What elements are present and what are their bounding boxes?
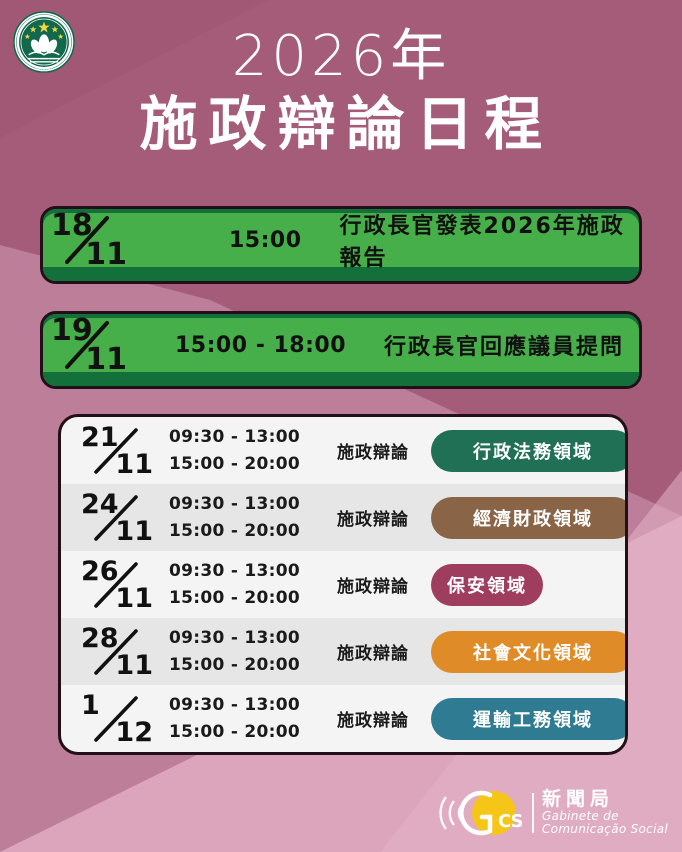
session-time-evening: 15:00 - 20:00	[169, 652, 321, 678]
policy-area-cell: 保安領域	[425, 564, 611, 606]
page-title: 施政辯論日程	[0, 91, 682, 158]
logo-divider	[532, 793, 534, 833]
table-row[interactable]: 21 11 09:30 - 13:00 15:00 - 20:00 施政辯論 行…	[61, 417, 625, 484]
session-time-morning: 09:30 - 13:00	[169, 558, 321, 584]
status-badge[interactable]: 行政法務領域	[431, 430, 628, 472]
gcs-wordmark: 新聞局 Gabinete de Comunicação Social	[542, 790, 668, 835]
session-times: 09:30 - 13:00 15:00 - 20:00	[169, 491, 321, 544]
banner-description: 行政長官發表2026年施政報告	[340, 208, 639, 272]
status-badge[interactable]: 社會文化領域	[431, 631, 628, 673]
policy-area-cell: 運輸工務領域	[425, 698, 628, 740]
date-month: 11	[115, 516, 153, 547]
date-fraction: 19 11	[43, 315, 135, 375]
status-badge[interactable]: 運輸工務領域	[431, 698, 628, 740]
policy-area-cell: 行政法務領域	[425, 430, 628, 472]
poster-title-block: 2026年 施政辯論日程	[0, 28, 682, 157]
session-times: 09:30 - 13:00 15:00 - 20:00	[169, 558, 321, 611]
date-fraction: 24 11	[77, 491, 163, 545]
session-time-morning: 09:30 - 13:00	[169, 692, 321, 718]
session-time-morning: 09:30 - 13:00	[169, 491, 321, 517]
status-badge[interactable]: 經濟財政領域	[431, 497, 628, 539]
table-row[interactable]: 26 11 09:30 - 13:00 15:00 - 20:00 施政辯論 保…	[61, 551, 625, 618]
session-times: 09:30 - 13:00 15:00 - 20:00	[169, 692, 321, 745]
highlight-banner-19-nov[interactable]: 19 11 15:00 - 18:00 行政長官回應議員提問	[40, 311, 642, 389]
session-times: 09:30 - 13:00 15:00 - 20:00	[169, 625, 321, 678]
session-times: 09:30 - 13:00 15:00 - 20:00	[169, 424, 321, 477]
date-fraction: 26 11	[77, 558, 163, 612]
session-type: 施政辯論	[321, 438, 425, 463]
banner-time: 15:00 - 18:00	[175, 333, 346, 358]
session-time-morning: 09:30 - 13:00	[169, 424, 321, 450]
table-row[interactable]: 1 12 09:30 - 13:00 15:00 - 20:00 施政辯論 運輸…	[61, 685, 625, 752]
session-time-evening: 15:00 - 20:00	[169, 719, 321, 745]
date-month: 11	[85, 342, 127, 377]
date-month: 11	[85, 237, 127, 272]
session-type: 施政辯論	[321, 505, 425, 530]
highlight-banner-18-nov[interactable]: 18 11 15:00 行政長官發表2026年施政報告	[40, 206, 642, 284]
session-time-evening: 15:00 - 20:00	[169, 451, 321, 477]
title-year: 2026年	[0, 28, 682, 87]
policy-area-cell: 經濟財政領域	[425, 497, 628, 539]
gcs-mark-icon: CS	[438, 787, 530, 839]
session-type: 施政辯論	[321, 706, 425, 731]
session-time-evening: 15:00 - 20:00	[169, 585, 321, 611]
date-month: 11	[115, 650, 153, 681]
banner-description: 行政長官回應議員提問	[384, 329, 624, 361]
status-badge[interactable]: 保安領域	[431, 564, 543, 606]
table-row[interactable]: 24 11 09:30 - 13:00 15:00 - 20:00 施政辯論 經…	[61, 484, 625, 551]
date-fraction: 28 11	[77, 625, 163, 679]
date-fraction: 18 11	[43, 210, 135, 270]
session-type: 施政辯論	[321, 639, 425, 664]
banner-time: 15:00	[229, 228, 302, 253]
date-month: 12	[115, 717, 153, 748]
poster-root: MACAU 2026年 施政辯論日程 18 11 15:00 行政長官發表202…	[0, 0, 682, 852]
debate-schedule-panel: 21 11 09:30 - 13:00 15:00 - 20:00 施政辯論 行…	[58, 414, 628, 755]
date-month: 11	[115, 449, 153, 480]
date-fraction: 1 12	[77, 692, 163, 746]
session-type: 施政辯論	[321, 572, 425, 597]
session-time-evening: 15:00 - 20:00	[169, 518, 321, 544]
table-row[interactable]: 28 11 09:30 - 13:00 15:00 - 20:00 施政辯論 社…	[61, 618, 625, 685]
gcs-name-cn: 新聞局	[542, 790, 668, 810]
date-fraction: 21 11	[77, 424, 163, 478]
session-time-morning: 09:30 - 13:00	[169, 625, 321, 651]
policy-area-cell: 社會文化領域	[425, 631, 628, 673]
date-month: 11	[115, 583, 153, 614]
svg-text:CS: CS	[498, 811, 523, 832]
gcs-name-pt2: Comunicação Social	[542, 823, 668, 836]
gcs-logo: CS 新聞局 Gabinete de Comunicação Social	[438, 786, 668, 840]
